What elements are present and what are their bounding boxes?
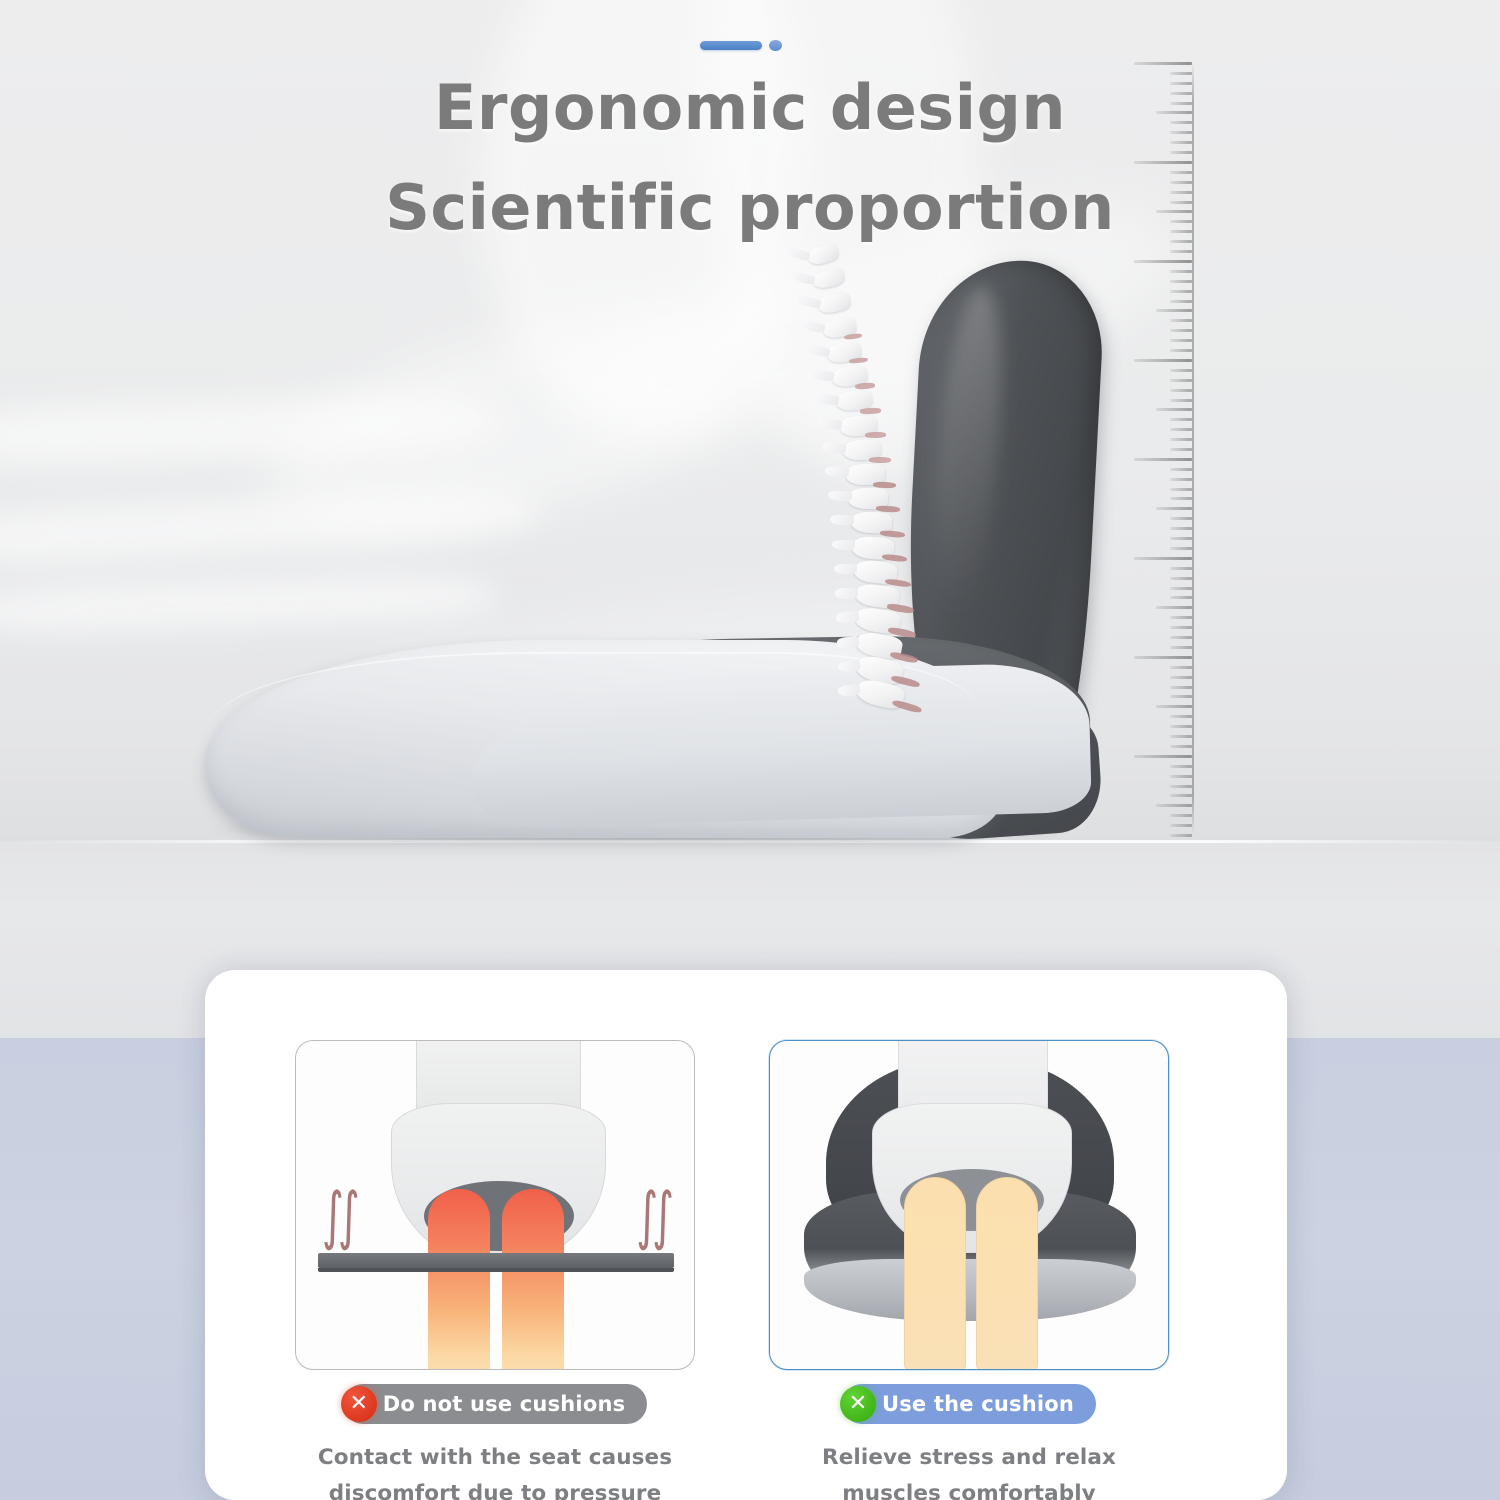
ruler-tick (1170, 171, 1192, 174)
ruler-tick (1170, 72, 1192, 75)
spinous-process (830, 515, 854, 526)
ruler-tick (1156, 705, 1192, 708)
ruler-tick (1134, 260, 1192, 263)
headline-line-1: Ergonomic design (0, 72, 1500, 144)
intervertebral-disc (855, 382, 875, 389)
ruler-tick (1170, 399, 1192, 402)
cushion-front-lip (804, 1259, 1136, 1321)
ruler-tick (1170, 695, 1192, 698)
pressure-leg-right (502, 1189, 564, 1370)
ruler-tick (1170, 587, 1192, 590)
ruler-tick (1170, 181, 1192, 184)
spinous-process (789, 270, 816, 286)
relaxed-leg-right (976, 1177, 1038, 1370)
headline-line-2: Scientific proportion (0, 172, 1500, 244)
caption-line-2: muscles comfortably (769, 1476, 1169, 1500)
ruler-tick (1170, 814, 1192, 817)
ruler-tick (1156, 309, 1192, 312)
ruler-tick (1170, 794, 1192, 797)
ruler-tick (1156, 507, 1192, 510)
spinous-process (783, 245, 811, 262)
marketing-image-stage: Ergonomic design Scientific proportion ∫… (0, 0, 1500, 1500)
caption-without-cushion: Contact with the seat causes discomfort … (295, 1440, 695, 1500)
ruler-tick (1170, 517, 1192, 520)
spinous-process (832, 540, 855, 551)
ruler-tick (1170, 369, 1192, 372)
spinous-process (817, 417, 843, 430)
ruler-tick (1170, 339, 1192, 342)
ruler-tick (1134, 359, 1192, 362)
ruler-tick (1170, 527, 1192, 530)
pressure-leg-left (428, 1189, 490, 1370)
ruler-tick (1170, 250, 1192, 253)
hard-seat-edge (318, 1268, 674, 1272)
ruler-tick (1170, 735, 1192, 738)
comparison-panes: ∫∫ ∫∫ ✕ Do not use cushions Contact with… (205, 970, 1287, 1500)
ruler-tick (1170, 547, 1192, 550)
decorative-accent (700, 40, 782, 51)
ruler-tick (1170, 428, 1192, 431)
ruler-tick (1170, 220, 1192, 223)
ruler-tick (1170, 92, 1192, 95)
cross-icon: ✕ (341, 1386, 377, 1422)
intervertebral-disc (873, 481, 896, 488)
vertebra (811, 267, 845, 292)
ruler-tick (1170, 715, 1192, 718)
ruler-tick (1170, 824, 1192, 827)
panel-with-cushion: ✕ Use the cushion Relieve stress and rel… (769, 1040, 1169, 1500)
ruler-tick (1156, 804, 1192, 807)
ruler-tick (1170, 418, 1192, 421)
ruler-tick (1134, 458, 1192, 461)
ruler-tick (1170, 646, 1192, 649)
discomfort-wave-icon: ∫∫ (322, 1194, 354, 1239)
ruler-tick (1170, 201, 1192, 204)
check-icon: ✕ (840, 1386, 876, 1422)
intervertebral-disc (864, 432, 886, 438)
ruler-tick (1170, 349, 1192, 352)
ruler-tick (1170, 636, 1192, 639)
ruler-tick (1170, 280, 1192, 283)
caption-line-2: discomfort due to pressure (295, 1476, 695, 1500)
ruler-tick (1170, 379, 1192, 382)
ruler-tick (1170, 102, 1192, 105)
ruler-tick (1170, 666, 1192, 669)
spinous-process (821, 441, 846, 454)
ruler-tick (1170, 686, 1192, 689)
ruler-tick (1170, 151, 1192, 154)
ruler-tick (1170, 765, 1192, 768)
ruler-tick (1170, 448, 1192, 451)
illustration-hard-seat: ∫∫ ∫∫ (295, 1040, 695, 1370)
spinous-process (827, 490, 851, 502)
ruler-tick (1156, 408, 1192, 411)
ruler-tick (1170, 834, 1192, 837)
ruler-tick (1170, 497, 1192, 500)
panel-without-cushion: ∫∫ ∫∫ ✕ Do not use cushions Contact with… (295, 1040, 695, 1500)
decorative-dot (769, 40, 782, 51)
discomfort-wave-icon: ∫∫ (636, 1194, 668, 1239)
ruler-tick (1170, 319, 1192, 322)
caption-line-1: Contact with the seat causes (295, 1440, 695, 1476)
spinous-process (804, 343, 831, 358)
ruler-tick (1170, 230, 1192, 233)
ruler-tick (1170, 745, 1192, 748)
spinous-process (824, 466, 849, 478)
ruler-tick (1170, 626, 1192, 629)
ruler-tick (1170, 468, 1192, 471)
ruler-tick (1170, 82, 1192, 85)
ruler-tick (1170, 121, 1192, 124)
measurement-ruler (1128, 62, 1194, 834)
human-spine-illustration (780, 240, 990, 710)
spinous-process (835, 588, 858, 599)
ruler-tick (1170, 775, 1192, 778)
spinous-process (837, 636, 860, 649)
vertebra (806, 242, 840, 267)
spinous-process (794, 294, 821, 310)
ruler-tick (1170, 438, 1192, 441)
ruler-tick (1170, 488, 1192, 491)
spinous-process (834, 564, 857, 575)
badge-use-the-cushion: ✕ Use the cushion (842, 1384, 1096, 1424)
ruler-tick (1170, 577, 1192, 580)
caption-line-1: Relieve stress and relax (769, 1440, 1169, 1476)
ruler-tick (1156, 111, 1192, 114)
ruler-tick (1170, 785, 1192, 788)
comparison-card: ∫∫ ∫∫ ✕ Do not use cushions Contact with… (205, 970, 1287, 1500)
badge-do-not-use-cushions: ✕ Do not use cushions (343, 1384, 648, 1424)
ruler-tick (1134, 62, 1192, 65)
ruler-tick (1156, 606, 1192, 609)
ruler-tick (1170, 478, 1192, 481)
ruler-tick (1170, 596, 1192, 599)
ruler-tick (1170, 567, 1192, 570)
ruler-tick (1134, 656, 1192, 659)
badge-label: Do not use cushions (383, 1392, 626, 1416)
ruler-tick (1134, 755, 1192, 758)
decorative-pill (700, 41, 762, 50)
ruler-tick (1170, 389, 1192, 392)
ruler-tick (1170, 329, 1192, 332)
relaxed-leg-left (904, 1177, 966, 1370)
ruler-tick (1170, 290, 1192, 293)
hard-seat-surface (318, 1253, 674, 1268)
ruler-tick (1134, 161, 1192, 164)
ruler-tick (1134, 557, 1192, 560)
ruler-tick (1170, 616, 1192, 619)
spinous-process (813, 392, 839, 406)
intervertebral-disc (869, 457, 891, 463)
vertebra (816, 291, 851, 315)
spinous-process (836, 612, 859, 624)
ruler-tick (1156, 210, 1192, 213)
ruler-tick (1170, 537, 1192, 540)
badge-label: Use the cushion (882, 1392, 1074, 1416)
ruler-tick (1170, 141, 1192, 144)
intervertebral-disc (849, 357, 869, 364)
ruler-tick (1170, 300, 1192, 303)
ruler-tick (1170, 676, 1192, 679)
ruler-spine (1192, 62, 1194, 834)
ruler-tick (1170, 240, 1192, 243)
ruler-tick (1170, 131, 1192, 134)
ruler-tick (1170, 725, 1192, 728)
illustration-with-cushion (769, 1040, 1169, 1370)
spinous-process (809, 368, 835, 382)
ruler-tick (1170, 191, 1192, 194)
spinous-process (799, 319, 826, 334)
ruler-tick (1170, 270, 1192, 273)
intervertebral-disc (860, 407, 881, 414)
caption-with-cushion: Relieve stress and relax muscles comfort… (769, 1440, 1169, 1500)
